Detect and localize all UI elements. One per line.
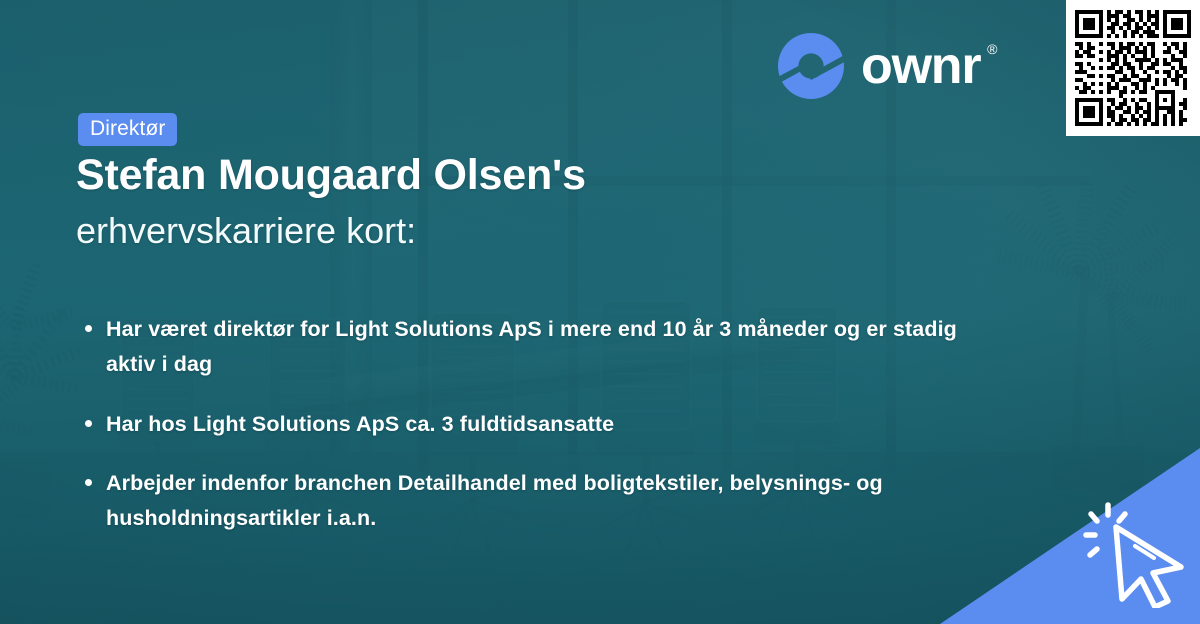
ownr-wordmark: ownr® [861,40,980,92]
ownr-circle-swirl-icon [778,33,844,99]
qr-code-icon[interactable] [1075,9,1191,127]
click-cursor-icon [1082,498,1186,608]
page-title: Stefan Mougaard Olsen's [76,154,976,197]
page-subtitle: erhvervskarriere kort: [76,210,976,251]
list-item: Har været direktør for Light Solutions A… [78,312,958,382]
ownr-profile-card: Direktør Stefan Mougaard Olsen's erhverv… [0,0,1200,624]
career-facts-list: Har været direktør for Light Solutions A… [78,312,958,536]
ownr-wordmark-text: ownr [861,37,980,95]
list-item: Har hos Light Solutions ApS ca. 3 fuldti… [78,407,958,442]
list-item: Arbejder indenfor branchen Detailhandel … [78,466,958,536]
role-badge: Direktør [78,113,177,146]
ownr-logo: ownr® [778,33,980,99]
registered-trademark-icon: ® [987,42,997,56]
qr-code-panel[interactable] [1066,0,1200,136]
